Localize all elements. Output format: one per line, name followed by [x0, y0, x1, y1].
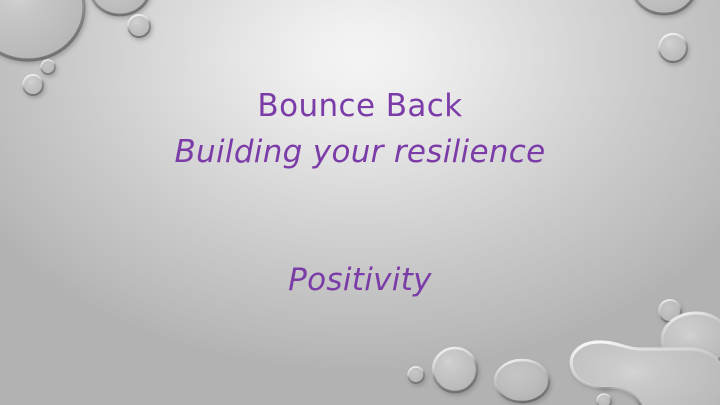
slide-title: Bounce Back: [0, 88, 720, 124]
slide-topic: Positivity: [0, 262, 720, 298]
presentation-slide: Bounce Back Building your resilience Pos…: [0, 0, 720, 405]
slide-text-layer: Bounce Back Building your resilience Pos…: [0, 0, 720, 405]
slide-subtitle: Building your resilience: [0, 134, 720, 170]
